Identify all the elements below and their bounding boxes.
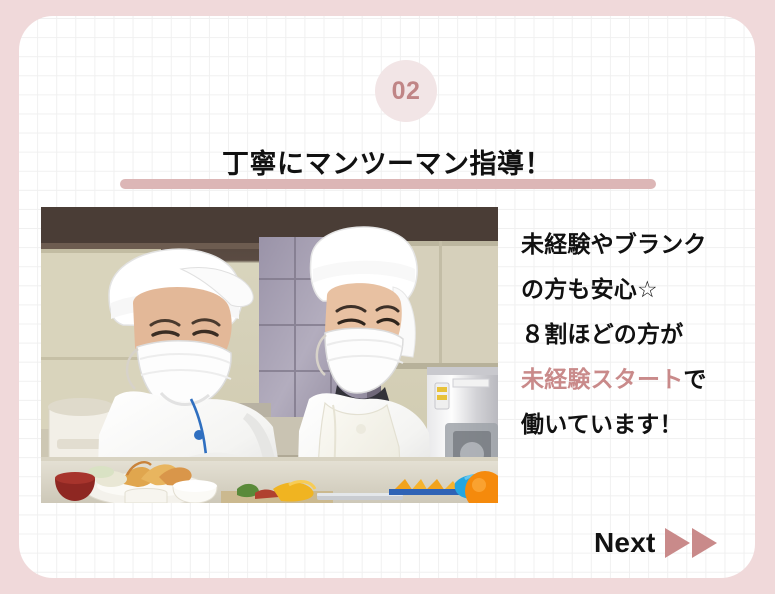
play-arrow-icon bbox=[692, 528, 717, 558]
copy-line: ８割ほどの方が bbox=[521, 312, 753, 357]
play-arrow-icon bbox=[665, 528, 690, 558]
step-number-label: 02 bbox=[392, 79, 421, 104]
content-card: 02 丁寧にマンツーマン指導！ bbox=[19, 16, 755, 578]
accent-text: 未経験スタート bbox=[521, 366, 683, 392]
copy-line: 未経験やブランク bbox=[521, 222, 753, 267]
next-label: Next bbox=[594, 529, 656, 557]
copy-line-accent: 未経験スタートで bbox=[521, 357, 753, 402]
next-button[interactable]: Next bbox=[594, 528, 717, 558]
copy-line: 働いています！ bbox=[521, 402, 753, 447]
page-title: 丁寧にマンツーマン指導！ bbox=[222, 150, 552, 180]
slide-frame: 02 丁寧にマンツーマン指導！ bbox=[0, 0, 775, 594]
step-number-badge: 02 bbox=[375, 60, 437, 122]
next-arrows-group bbox=[665, 528, 717, 558]
accent-tail-text: で bbox=[683, 366, 706, 392]
copy-line: の方も安心☆ bbox=[521, 267, 753, 312]
training-photo bbox=[41, 207, 498, 503]
heading-underline-bar bbox=[120, 179, 656, 189]
body-copy-block: 未経験やブランク の方も安心☆ ８割ほどの方が 未経験スタートで 働いています！ bbox=[521, 222, 753, 447]
heading-block: 丁寧にマンツーマン指導！ bbox=[19, 150, 755, 180]
